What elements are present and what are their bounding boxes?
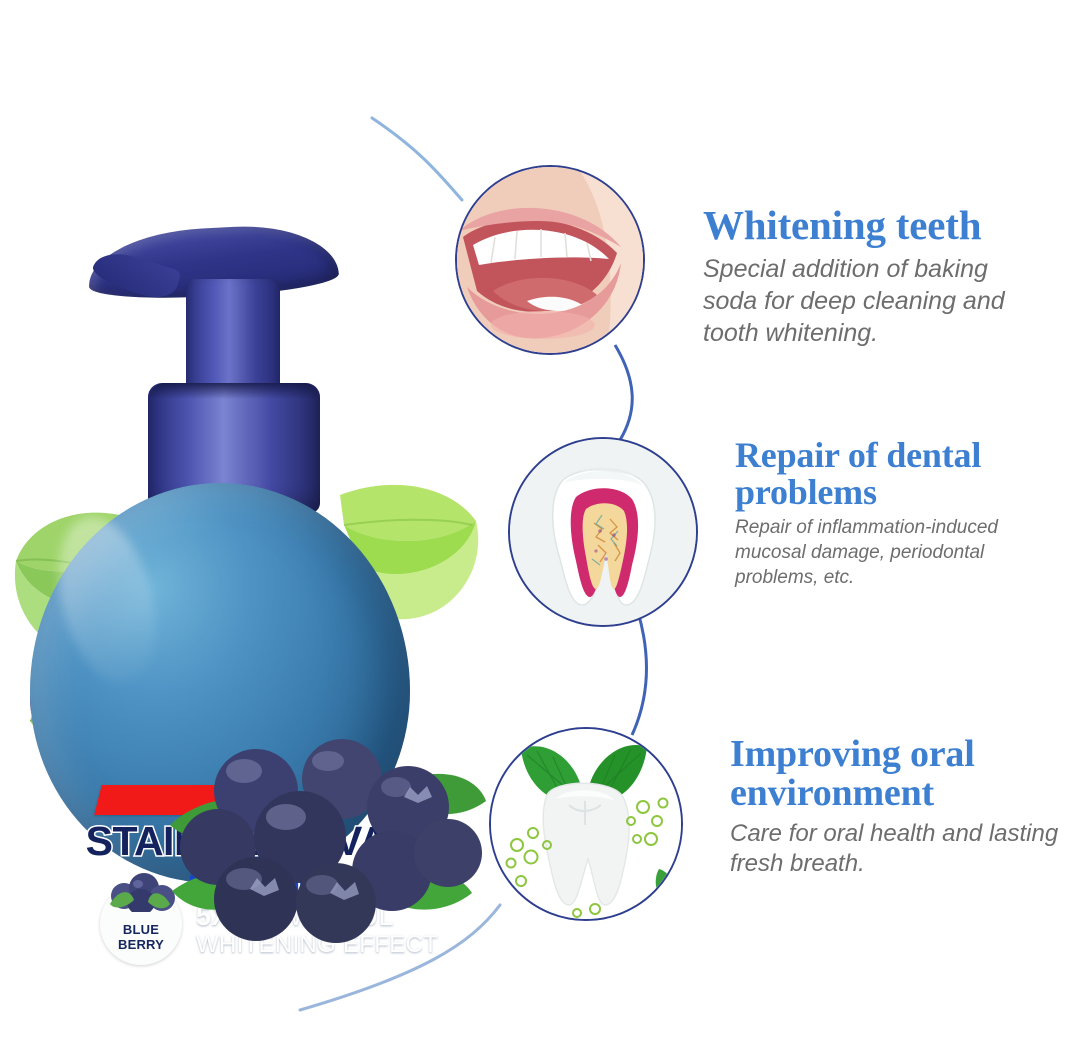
feature-image-whitening-teeth [455,165,645,355]
feature-heading: Repair of dental problems [735,437,1055,510]
flavor-badge-line2: BERRY [118,938,164,953]
product-bottle: STAIN REMOVAL WHITENING TOOTHPASTE 5X PO… [0,215,500,955]
feature-heading: Whitening teeth [703,205,1048,247]
feature-image-oral-environment [489,727,683,921]
flavor-badge-line1: BLUE [118,923,164,938]
feature-body: Special addition of baking soda for deep… [703,253,1048,349]
feature-image-tooth-cross-section [508,437,698,627]
feature-text-whitening-teeth: Whitening teeth Special addition of baki… [703,205,1048,349]
feature-text-repair-dental: Repair of dental problems Repair of infl… [735,437,1055,591]
feature-body: Care for oral health and lasting fresh b… [730,819,1060,880]
blueberry-cluster [160,725,490,945]
product-infographic: STAIN REMOVAL WHITENING TOOTHPASTE 5X PO… [0,0,1072,1048]
feature-body: Repair of inflammation-induced mucosal d… [735,516,1055,590]
feature-heading: Improving oral environment [730,735,1060,813]
feature-text-improving-oral: Improving oral environment Care for oral… [730,735,1060,880]
